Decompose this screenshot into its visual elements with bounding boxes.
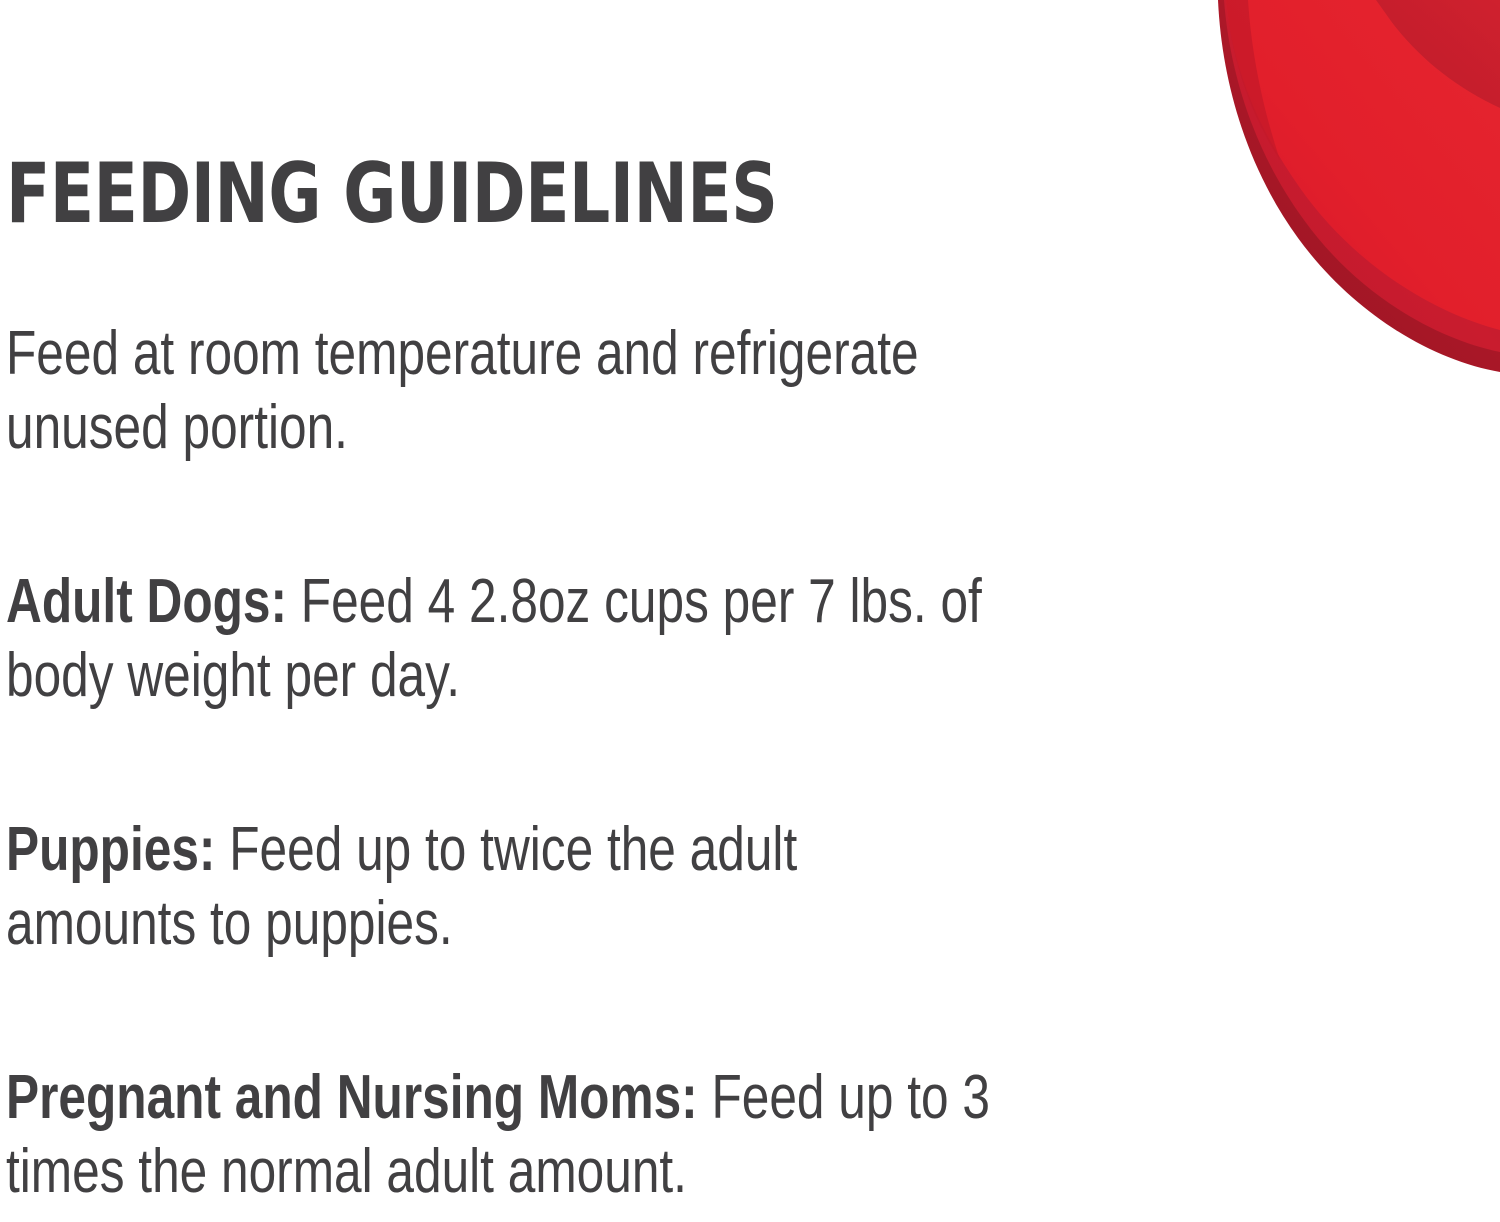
intro-line-1: Feed at room temperature and refrigerate <box>6 317 1142 391</box>
intro-line-2: unused portion. <box>6 391 1142 465</box>
section-puppies: Puppies: Feed up to twice the adult amou… <box>6 713 1142 961</box>
puppies-text-1: Feed up to twice the adult <box>215 815 797 884</box>
puppies-label: Puppies: <box>6 815 215 884</box>
moms-line-1: Pregnant and Nursing Moms: Feed up to 3 <box>6 1061 1142 1135</box>
puppies-line-1: Puppies: Feed up to twice the adult <box>6 813 1142 887</box>
adult-dogs-line-1: Adult Dogs: Feed 4 2.8oz cups per 7 lbs.… <box>6 565 1142 639</box>
adult-dogs-label: Adult Dogs: <box>6 567 287 636</box>
moms-label: Pregnant and Nursing Moms: <box>6 1063 698 1132</box>
moms-text-1: Feed up to 3 <box>698 1063 990 1132</box>
adult-dogs-line-2: body weight per day. <box>6 639 1142 713</box>
guidelines-content: FEEDING GUIDELINES Feed at room temperat… <box>6 0 1426 1209</box>
moms-line-2: times the normal adult amount. <box>6 1135 1142 1209</box>
page-title: FEEDING GUIDELINES <box>6 0 1114 235</box>
section-intro: Feed at room temperature and refrigerate… <box>6 235 1142 465</box>
puppies-line-2: amounts to puppies. <box>6 887 1142 961</box>
adult-dogs-text-1: Feed 4 2.8oz cups per 7 lbs. of <box>287 567 982 636</box>
feeding-guidelines-panel: FEEDING GUIDELINES Feed at room temperat… <box>0 0 1500 1222</box>
section-adult-dogs: Adult Dogs: Feed 4 2.8oz cups per 7 lbs.… <box>6 465 1142 713</box>
section-pregnant-nursing-moms: Pregnant and Nursing Moms: Feed up to 3 … <box>6 961 1142 1209</box>
